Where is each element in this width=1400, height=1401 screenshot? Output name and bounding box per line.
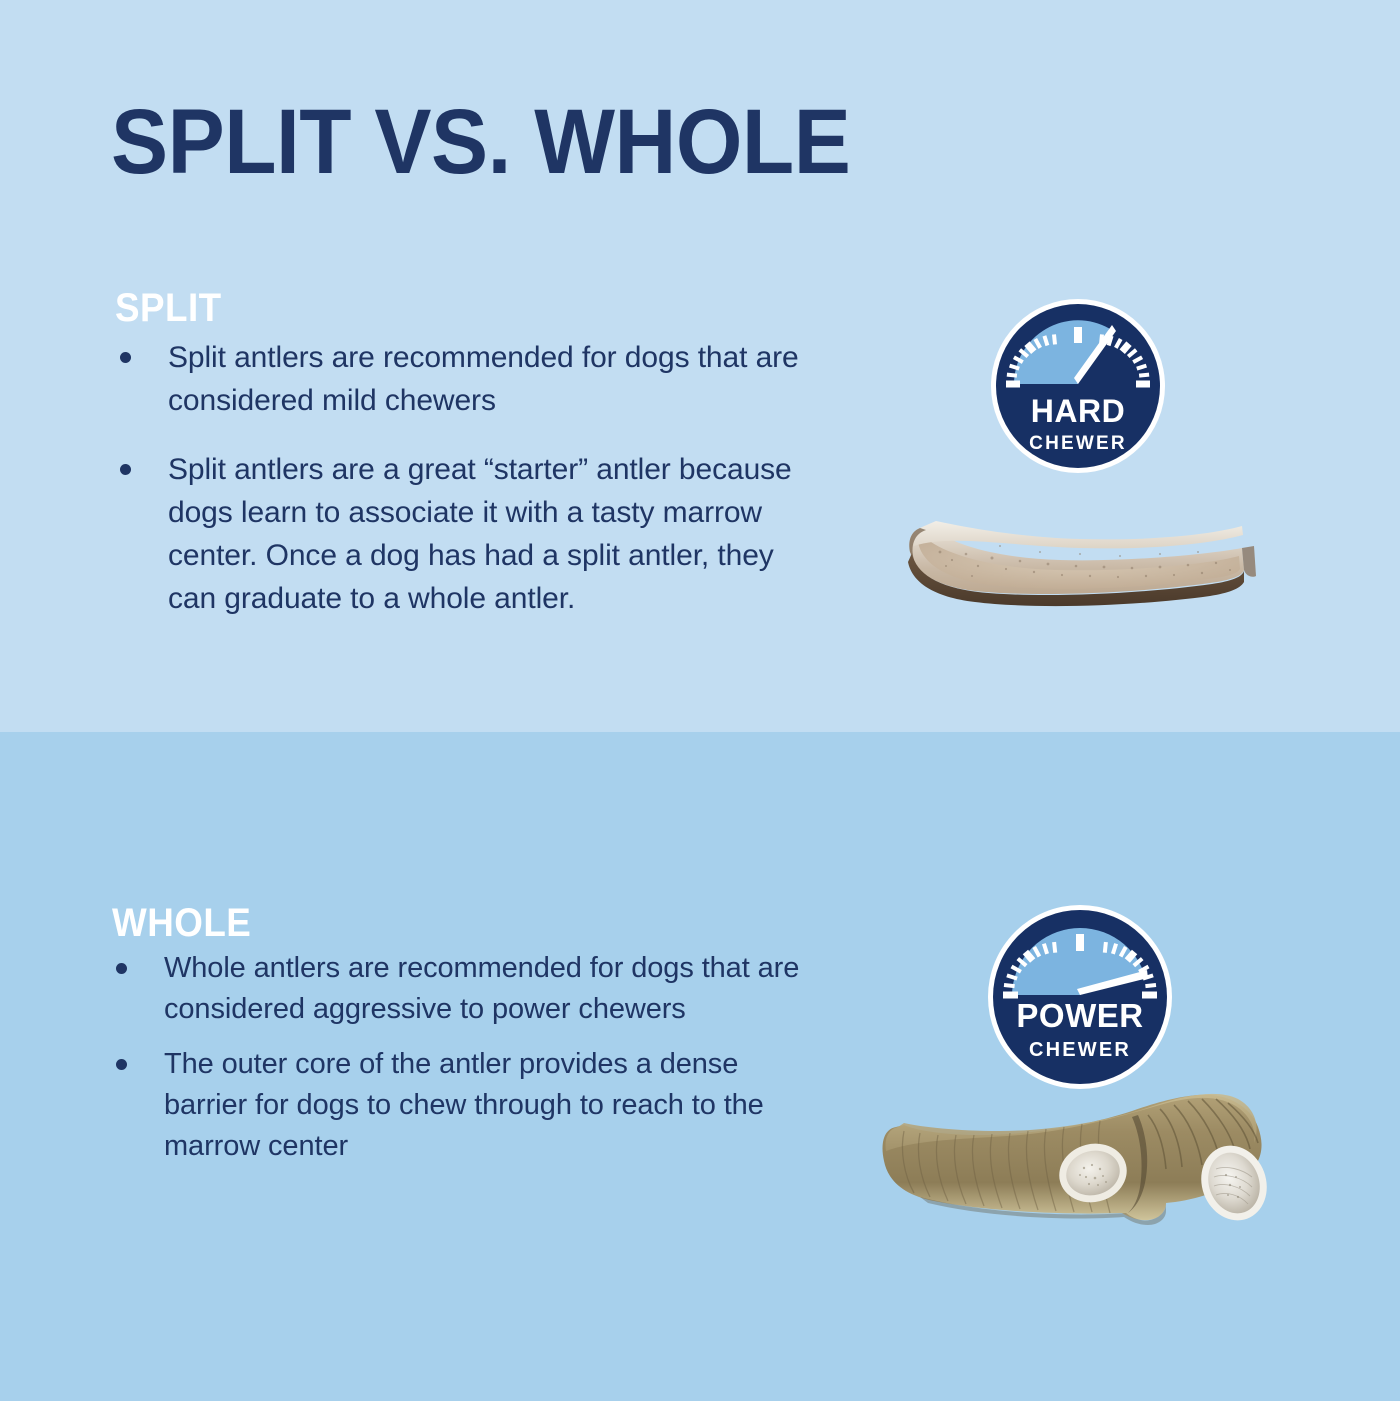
list-item: The outer core of the antler provides a … xyxy=(108,1044,808,1167)
list-item-text: Whole antlers are recommended for dogs t… xyxy=(164,948,808,1030)
gauge-icon xyxy=(988,296,1168,476)
bullet-dot-icon xyxy=(116,1059,127,1070)
list-item-text: Split antlers are recommended for dogs t… xyxy=(168,336,812,422)
section-heading-whole: WHOLE xyxy=(112,903,251,943)
bullet-dot-icon xyxy=(116,963,127,974)
bullet-dot-icon xyxy=(120,352,131,363)
list-item: Split antlers are recommended for dogs t… xyxy=(112,336,812,422)
bullet-dot-icon xyxy=(120,464,131,475)
badge-power-chewer: POWER CHEWER xyxy=(985,902,1175,1092)
gauge-icon xyxy=(985,902,1175,1092)
badge-hard-chewer: HARD CHEWER xyxy=(988,296,1168,476)
list-item: Split antlers are a great “starter” antl… xyxy=(112,448,812,620)
bullet-list-split: Split antlers are recommended for dogs t… xyxy=(112,336,812,620)
infographic-page: SPLIT VS. WHOLE SPLIT Split antlers are … xyxy=(0,0,1400,1401)
section-heading-split: SPLIT xyxy=(115,288,222,328)
list-item-text: The outer core of the antler provides a … xyxy=(164,1044,808,1167)
list-item-text: Split antlers are a great “starter” antl… xyxy=(168,448,812,620)
list-item: Whole antlers are recommended for dogs t… xyxy=(108,948,808,1030)
page-title: SPLIT VS. WHOLE xyxy=(111,96,850,188)
split-antler-photo xyxy=(880,490,1270,610)
whole-antler-photo xyxy=(860,1065,1275,1240)
bullet-list-whole: Whole antlers are recommended for dogs t… xyxy=(108,948,808,1167)
